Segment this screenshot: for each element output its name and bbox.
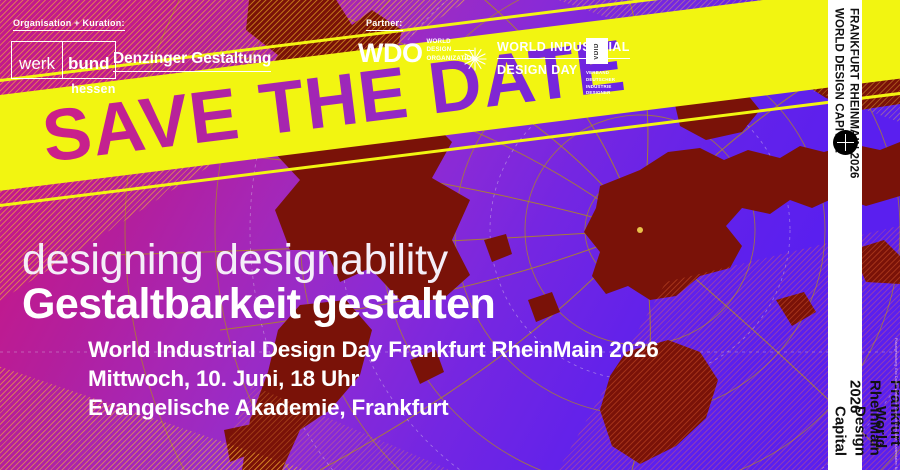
save-the-date-headline: SAVE THE DATE [0,0,900,198]
logo-werkbund-hessen: werk bund hessen [11,41,116,96]
event-details: World Industrial Design Day Frankfurt Rh… [88,336,748,422]
headline-block: designing designability Gestaltbarkeit g… [22,238,662,327]
vdid-sub-line4: DESIGNER [586,90,615,97]
werkbund-box-werk: werk [11,41,63,79]
event-date: Mittwoch, 10. Juni, 18 Uhr [88,365,748,394]
sidebar-stack-rheinmain: RheinMain [867,380,884,456]
sidebar-stack-col2: Frankfurt RheinMain 2026 [844,380,900,456]
vdid-mark-box: VDID [586,38,608,64]
partner-label: Partner: [366,18,403,31]
headline-bold: Gestaltbarkeit gestalten [22,281,662,327]
event-venue: Evangelische Akademie, Frankfurt [88,394,748,423]
werkbund-boxes: werk bund [11,41,116,79]
vdid-mark: VDID [594,43,600,60]
logo-wdo: WDO WORLD DESIGN ORGANIZATION [358,38,476,65]
credit-text: Plakatgestaltung: Eric Dahn · Weltkarte:… [893,338,898,470]
sidebar-top-block: WORLD DESIGN CAPITAL FRANKFURT RHEINMAIN… [828,8,862,138]
sidebar-bottom-block: World Design Capital Frankfurt RheinMain… [828,196,862,456]
werkbund-hessen-label: hessen [11,82,116,96]
logo-denzinger-gestaltung: Denzinger Gestaltung [113,50,271,72]
vdid-sub-line2: DEUTSCHER [586,77,615,84]
organisation-label: Organisation + Kuration: [13,18,125,31]
werkbund-box-bund: bund [63,41,116,79]
poster-canvas: SAVE THE DATE designing designability Ge… [0,0,900,470]
wdo-wordmark: WDO [358,42,422,65]
logo-vdid: VDID VERBAND DEUTSCHER INDUSTRIE DESIGNE… [586,38,615,97]
sunburst-icon [462,46,488,72]
sidebar-stack-2026: 2026 [846,380,863,413]
headline-light: designing designability [22,238,662,283]
vdid-subtext: VERBAND DEUTSCHER INDUSTRIE DESIGNER [586,70,615,97]
vdid-sub-line3: INDUSTRIE [586,84,615,91]
right-sidebar: WORLD DESIGN CAPITAL FRANKFURT RHEINMAIN… [828,0,862,470]
event-title: World Industrial Design Day Frankfurt Rh… [88,336,748,365]
vdid-sub-line1: VERBAND [586,70,615,77]
wdo-subtext-line2: DESIGN [426,46,451,54]
plus-icon [833,130,858,155]
